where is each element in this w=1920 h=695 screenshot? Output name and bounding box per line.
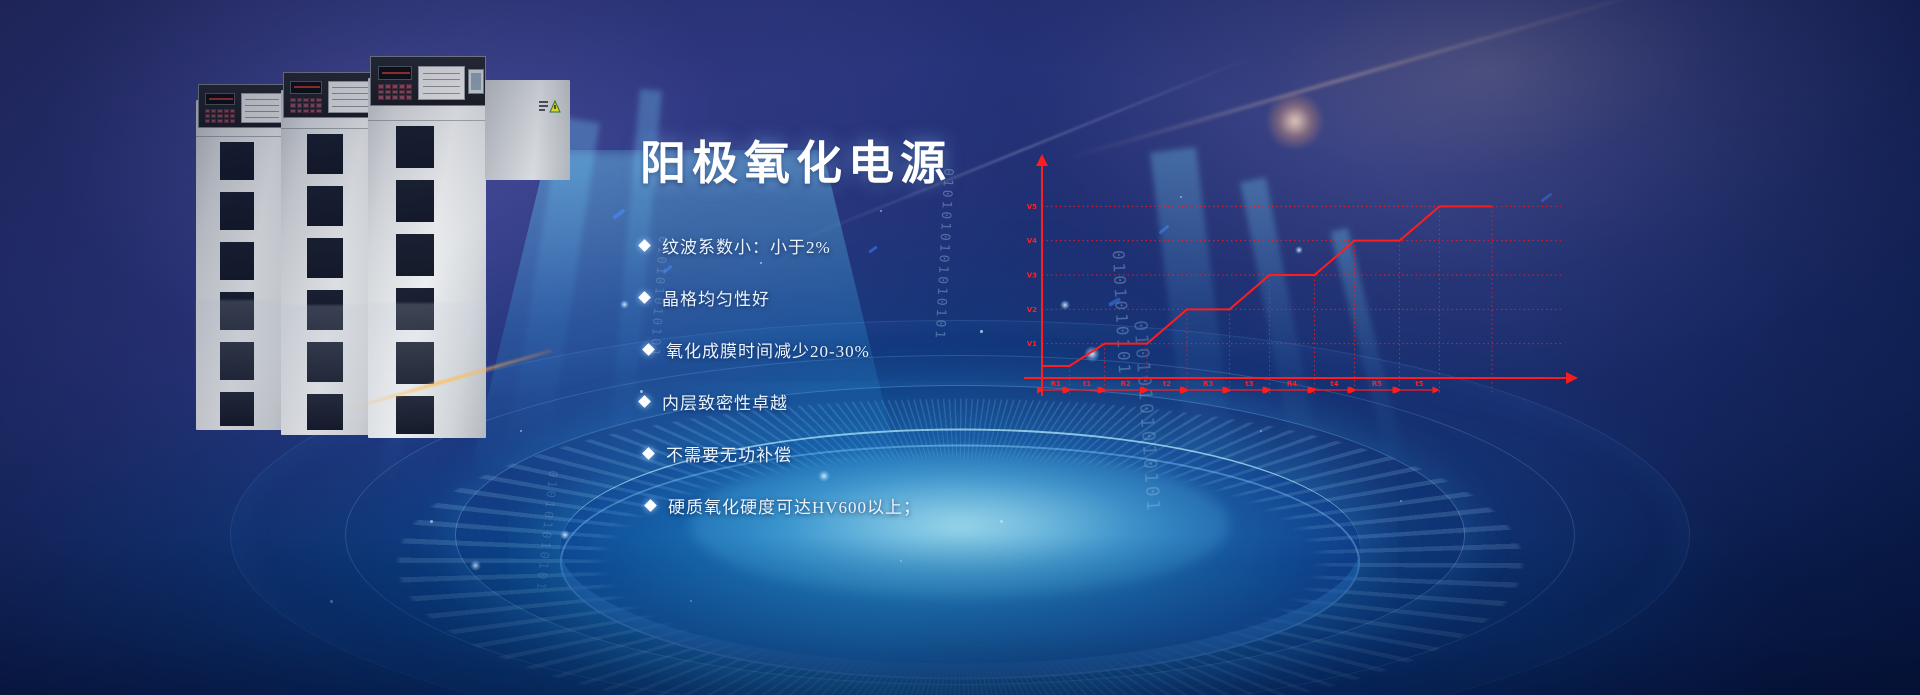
panel-digital-display bbox=[290, 81, 322, 94]
svg-text:V2: V2 bbox=[1027, 306, 1037, 314]
svg-text:V3: V3 bbox=[1027, 272, 1037, 280]
product-banner: 01010101010101 0101010101010101 01010101… bbox=[0, 0, 1920, 695]
floor-reflection bbox=[0, 535, 1920, 695]
particle bbox=[900, 560, 902, 562]
chart-svg: V1V2V3V4V5R1t1R2t2R3t3R4t4R5t5 bbox=[1020, 150, 1580, 410]
warning-badge-icon bbox=[539, 100, 561, 114]
svg-text:t2: t2 bbox=[1163, 380, 1171, 388]
svg-text:t4: t4 bbox=[1330, 380, 1338, 388]
svg-text:R1: R1 bbox=[1051, 380, 1061, 388]
particle bbox=[690, 600, 692, 602]
cabinet-door-window bbox=[307, 134, 343, 174]
panel-analog-meter bbox=[468, 69, 484, 94]
cabinet-door-window bbox=[307, 238, 343, 278]
cabinet-door-window bbox=[396, 126, 434, 168]
feature-text: 硬质氧化硬度可达HV600以上； bbox=[668, 493, 921, 518]
particle bbox=[1260, 430, 1262, 432]
voltage-ramp-chart: V1V2V3V4V5R1t1R2t2R3t3R4t4R5t5 bbox=[1020, 150, 1580, 410]
svg-text:t5: t5 bbox=[1415, 380, 1423, 388]
panel-label-card bbox=[328, 81, 372, 113]
panel-digital-display bbox=[205, 93, 235, 105]
panel-label-card bbox=[418, 66, 465, 100]
feature-text: 内层致密性卓越 bbox=[662, 389, 788, 414]
list-item: 硬质氧化硬度可达HV600以上； bbox=[646, 493, 1200, 518]
cabinet-group bbox=[196, 78, 616, 498]
bokeh-particle bbox=[560, 530, 570, 540]
cabinet-door-window bbox=[307, 186, 343, 226]
panel-keypad[interactable] bbox=[205, 109, 235, 123]
list-item: 不需要无功补偿 bbox=[644, 441, 1200, 466]
feature-text: 晶格均匀性好 bbox=[662, 285, 770, 310]
svg-text:R5: R5 bbox=[1372, 380, 1382, 388]
particle bbox=[1400, 500, 1402, 502]
svg-text:R2: R2 bbox=[1121, 380, 1131, 388]
lens-flare-icon bbox=[1266, 92, 1324, 150]
svg-text:t3: t3 bbox=[1245, 380, 1253, 388]
panel-keypad[interactable] bbox=[290, 98, 322, 113]
diamond-bullet-icon bbox=[644, 499, 657, 512]
cabinet-door-window bbox=[220, 142, 254, 180]
particle bbox=[430, 520, 433, 523]
particle bbox=[330, 600, 333, 603]
cabinet-side-body bbox=[485, 80, 570, 180]
diamond-bullet-icon bbox=[638, 395, 651, 408]
svg-text:V1: V1 bbox=[1027, 340, 1037, 348]
feature-text: 纹波系数小：小于2% bbox=[662, 233, 831, 258]
svg-text:R4: R4 bbox=[1287, 380, 1297, 388]
cabinet-door-window bbox=[396, 180, 434, 222]
diamond-bullet-icon bbox=[638, 239, 651, 252]
panel-label-card bbox=[241, 93, 283, 123]
svg-text:t1: t1 bbox=[1083, 380, 1091, 388]
cabinet-door-window bbox=[220, 242, 254, 280]
svg-text:V4: V4 bbox=[1027, 237, 1037, 245]
cabinet-control-panel[interactable] bbox=[370, 56, 486, 106]
cabinet-door-window bbox=[396, 234, 434, 276]
feature-text: 不需要无功补偿 bbox=[666, 441, 792, 466]
svg-text:R3: R3 bbox=[1203, 380, 1213, 388]
diamond-bullet-icon bbox=[642, 447, 655, 460]
cabinet-door-window bbox=[220, 192, 254, 230]
feature-text: 氧化成膜时间减少20-30% bbox=[666, 337, 870, 362]
diamond-bullet-icon bbox=[638, 291, 651, 304]
lens-flare-streak bbox=[1062, 0, 1678, 161]
bokeh-particle bbox=[470, 560, 481, 571]
panel-keypad[interactable] bbox=[378, 84, 412, 100]
panel-digital-display bbox=[378, 66, 412, 80]
svg-text:V5: V5 bbox=[1027, 203, 1037, 211]
diamond-bullet-icon bbox=[642, 343, 655, 356]
